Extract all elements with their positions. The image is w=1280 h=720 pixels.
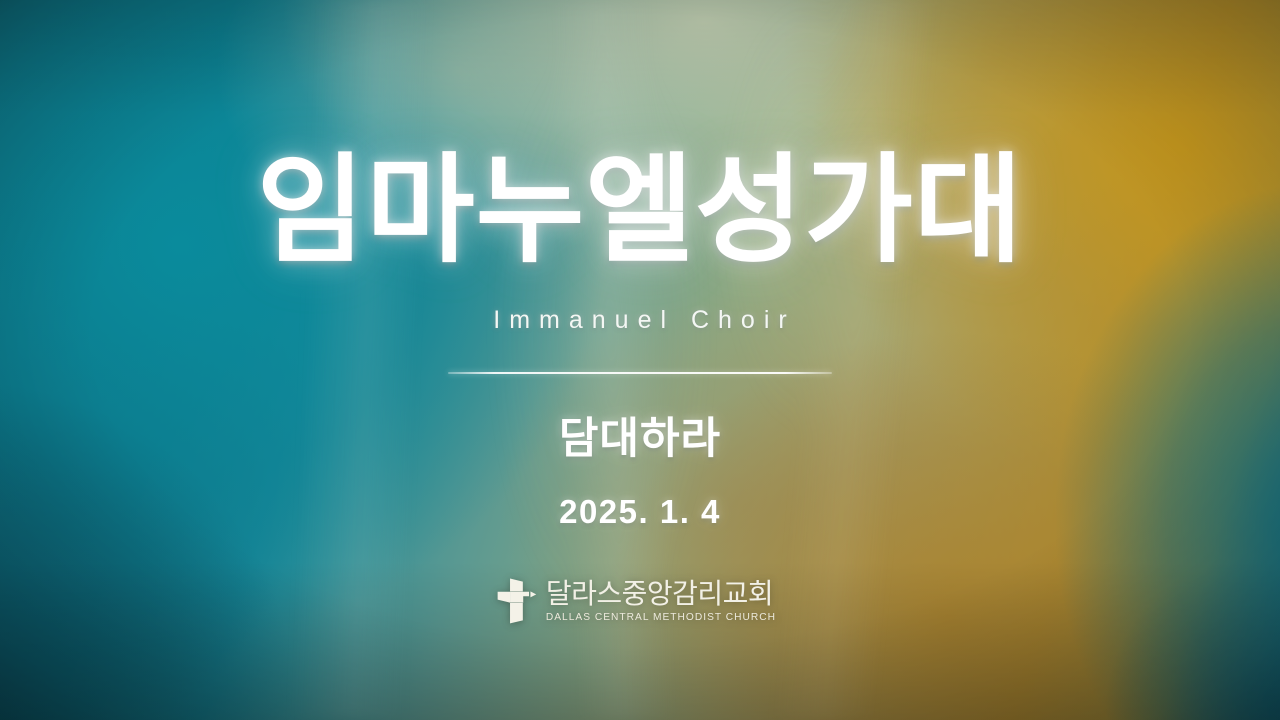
service-date: 2025. 1. 4 (0, 493, 1280, 531)
title-divider-rule (448, 372, 832, 374)
choir-name-english: Immanuel Choir (0, 306, 1280, 335)
choir-name-korean: 임마누엘성가대 (0, 152, 1280, 270)
church-name-korean: 달라스중앙감리교회 (546, 579, 773, 609)
church-wordmark: 달라스중앙감리교회 DALLAS CENTRAL METHODIST CHURC… (546, 579, 783, 623)
church-logo: 달라스중앙감리교회 DALLAS CENTRAL METHODIST CHURC… (497, 578, 783, 624)
church-name-english: DALLAS CENTRAL METHODIST CHURCH (546, 612, 776, 624)
song-title: 담대하라 (0, 404, 1280, 466)
slide-content: 임마누엘성가대 Immanuel Choir 담대하라 2025. 1. 4 (0, 0, 1280, 720)
angular-cross-logo-icon (497, 578, 537, 624)
title-slide: 임마누엘성가대 Immanuel Choir 담대하라 2025. 1. 4 (0, 0, 1280, 720)
